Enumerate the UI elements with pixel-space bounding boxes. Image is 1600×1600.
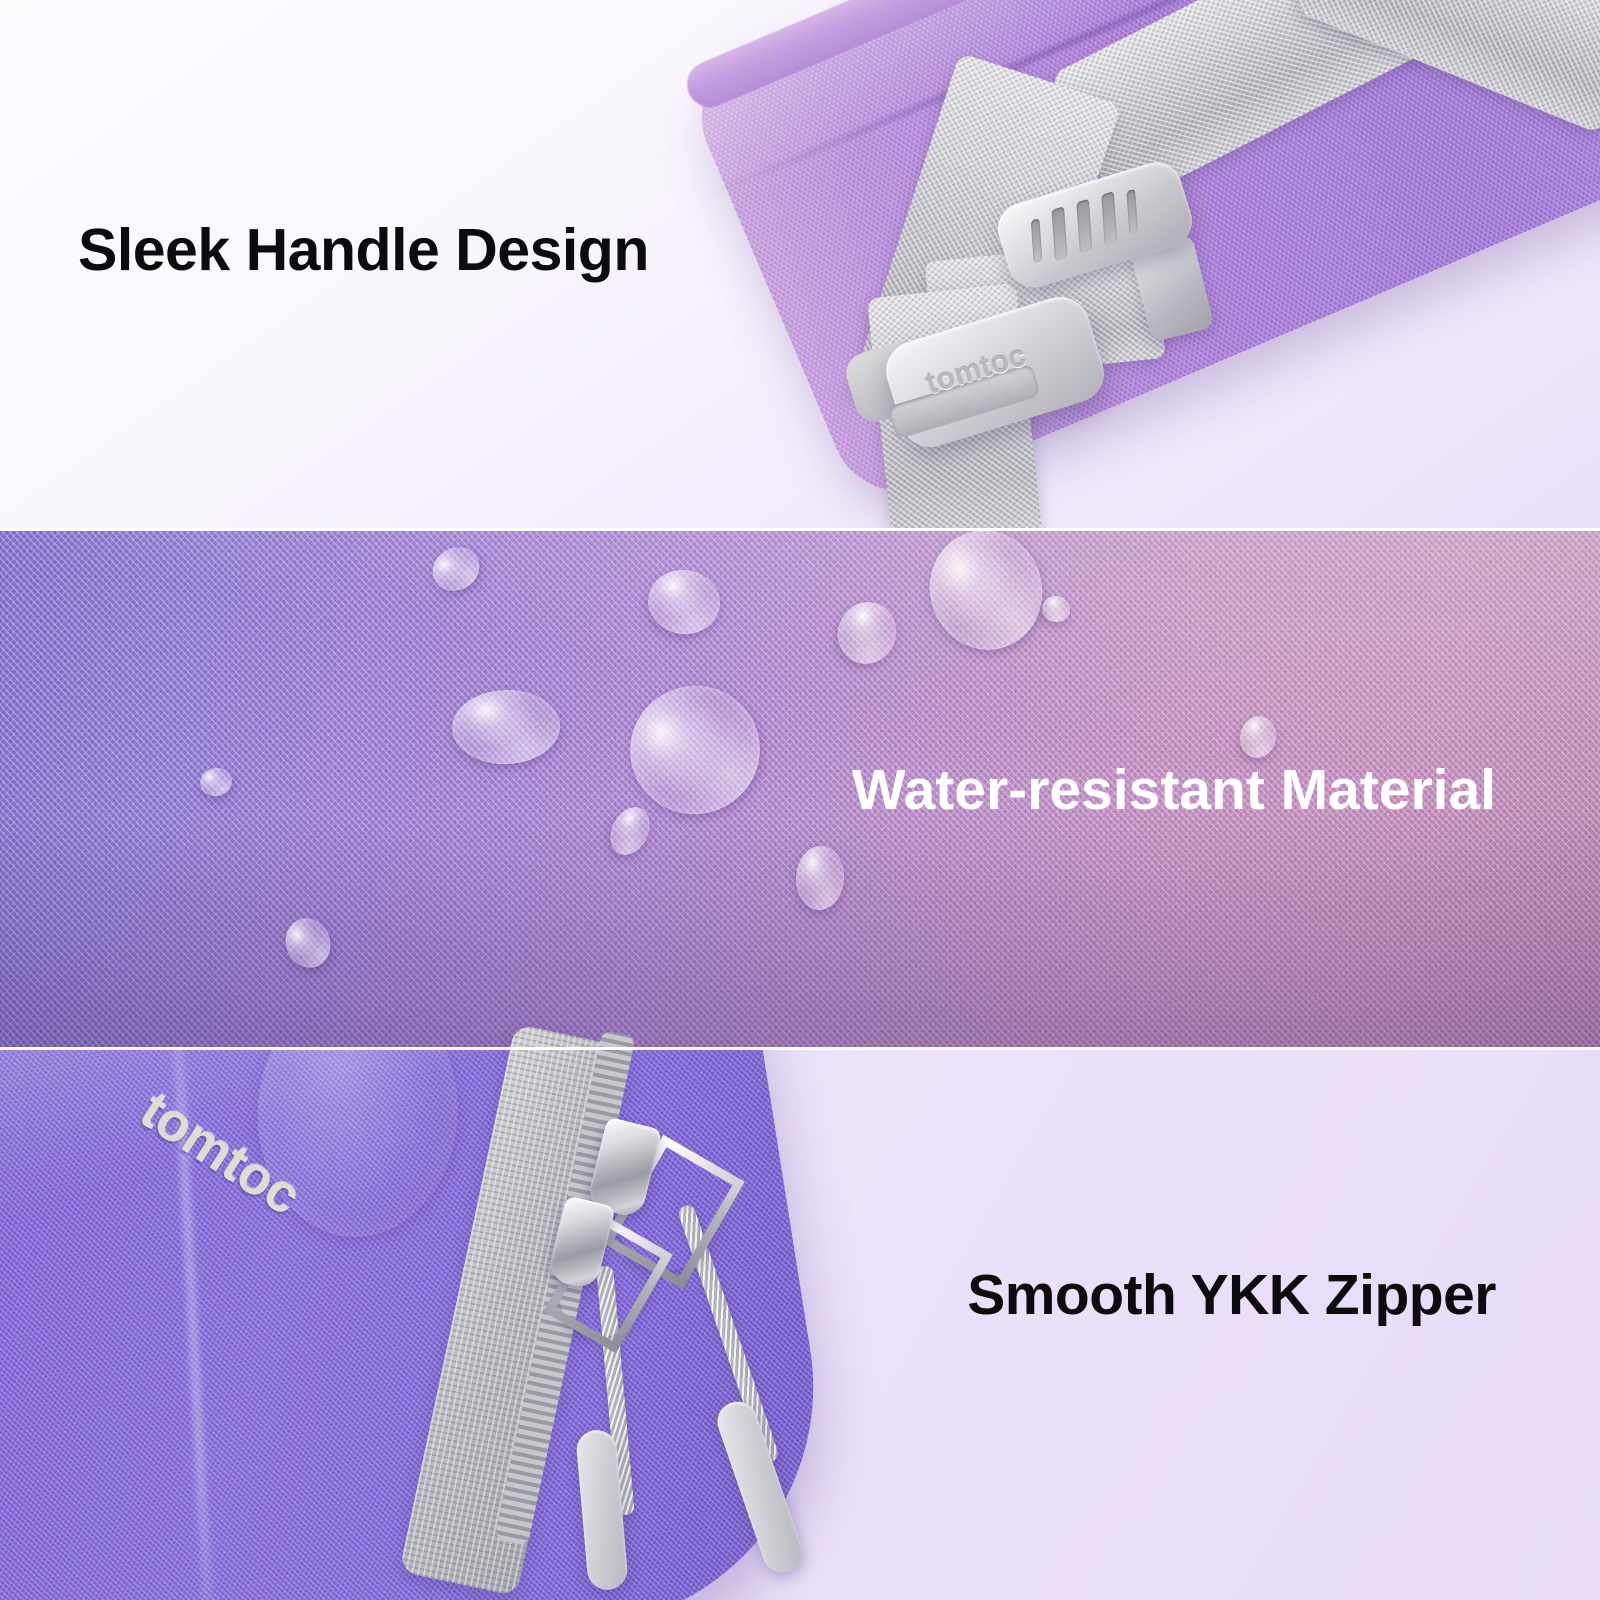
- caption-handle-design: Sleek Handle Design: [78, 216, 649, 284]
- panel-handle-design: tomtoc Sleek Handle Design: [0, 0, 1600, 528]
- buckle-slot-2: [1052, 206, 1068, 261]
- product-feature-collage: tomtoc Sleek Handle Design Water-resista…: [0, 0, 1600, 1600]
- caption-water-resistant: Water-resistant Material: [852, 757, 1496, 823]
- panel-divider-top: [0, 528, 1600, 531]
- panel-divider-bottom: [0, 1047, 1600, 1050]
- buckle-slot-4: [1101, 191, 1117, 246]
- buckle-slot-1: [1031, 218, 1043, 264]
- caption-ykk-zipper: Smooth YKK Zipper: [967, 1262, 1496, 1328]
- buckle-slot-3: [1076, 199, 1092, 254]
- buckle-slot-5: [1126, 189, 1138, 235]
